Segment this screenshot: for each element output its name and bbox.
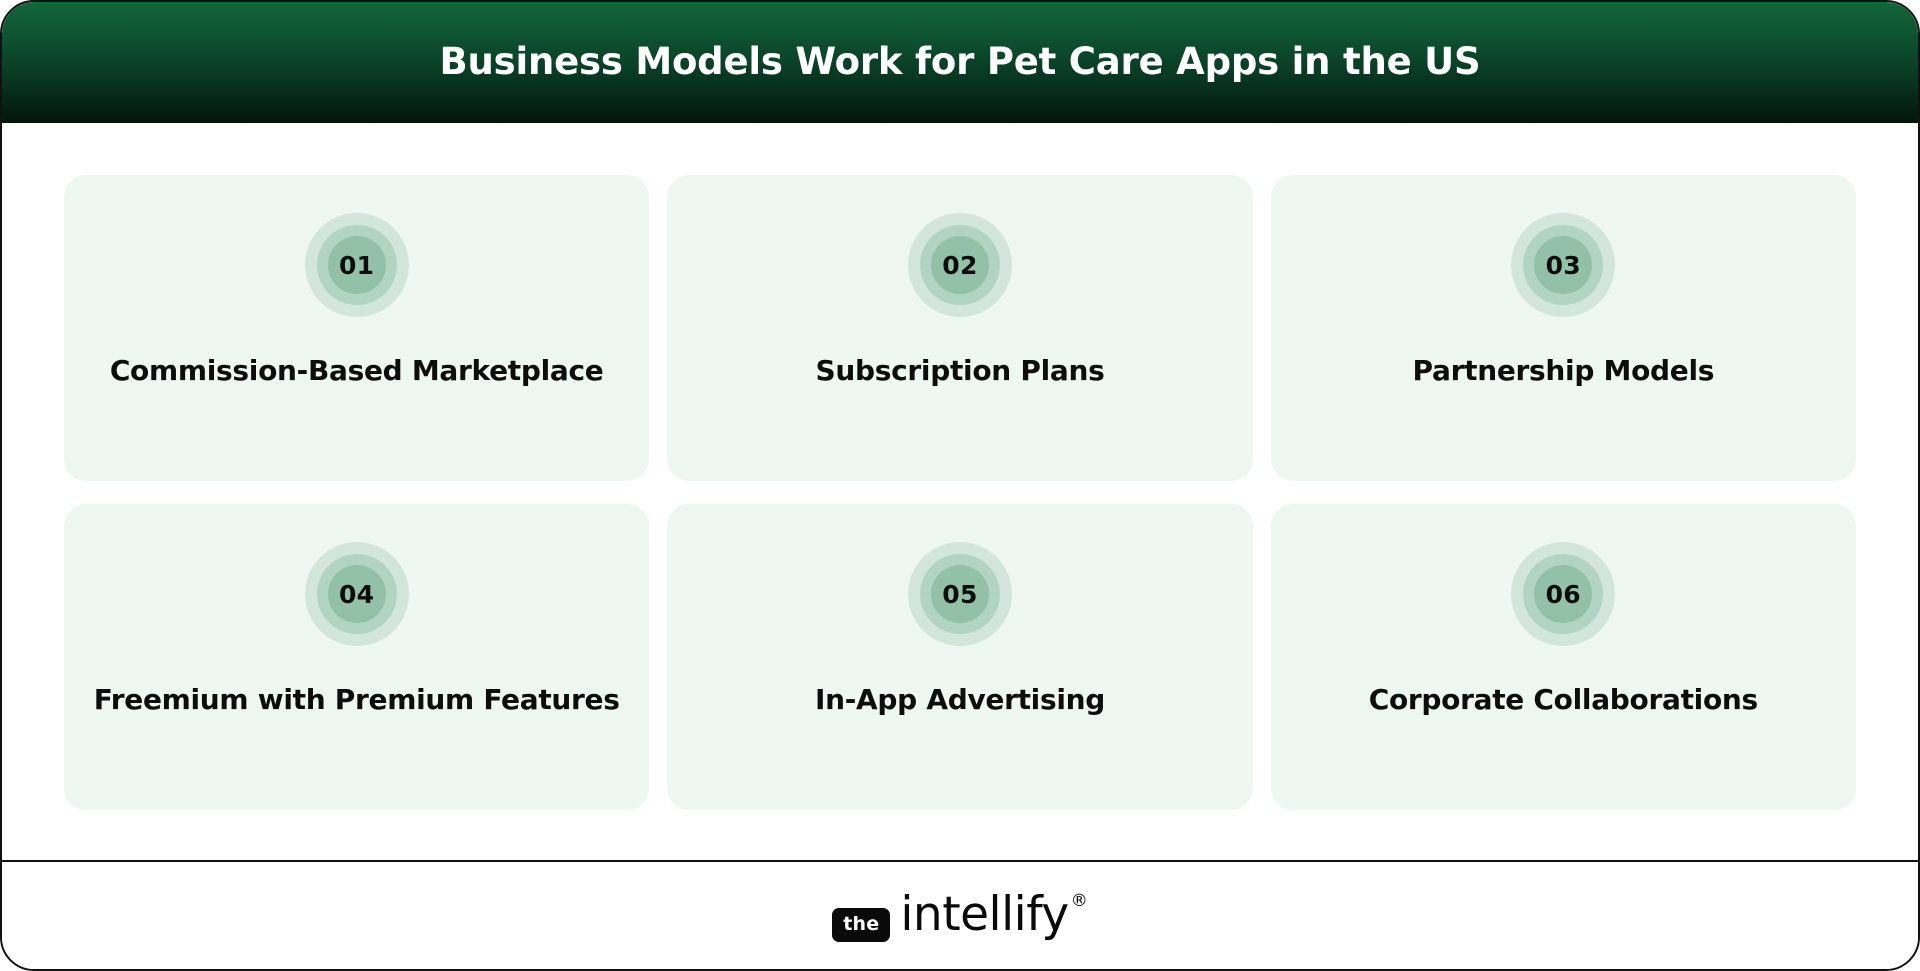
- card-title: Freemium with Premium Features: [76, 680, 638, 721]
- logo-name: intellify: [900, 891, 1068, 938]
- footer: the intellify ®: [2, 862, 1918, 971]
- badge-number: 03: [1546, 251, 1581, 280]
- card-grid: 01 Commission-Based Marketplace 02 Subsc…: [64, 175, 1856, 810]
- card-title: Corporate Collaborations: [1351, 680, 1776, 721]
- logo-the-badge: the: [832, 908, 890, 942]
- infographic-container: Business Models Work for Pet Care Apps i…: [0, 0, 1920, 971]
- number-badge: 03: [1511, 213, 1615, 317]
- number-badge: 06: [1511, 542, 1615, 646]
- card-title: Partnership Models: [1395, 351, 1733, 392]
- model-card[interactable]: 04 Freemium with Premium Features: [64, 504, 649, 810]
- card-title: Commission-Based Marketplace: [92, 351, 622, 392]
- registered-trademark-icon: ®: [1071, 893, 1088, 910]
- badge-number: 06: [1546, 580, 1581, 609]
- model-card[interactable]: 01 Commission-Based Marketplace: [64, 175, 649, 481]
- badge-number: 01: [339, 251, 374, 280]
- page-title: Business Models Work for Pet Care Apps i…: [380, 41, 1541, 84]
- model-card[interactable]: 02 Subscription Plans: [667, 175, 1252, 481]
- card-title: Subscription Plans: [798, 351, 1123, 392]
- badge-number: 04: [339, 580, 374, 609]
- number-badge: 04: [305, 542, 409, 646]
- number-badge: 01: [305, 213, 409, 317]
- number-badge: 02: [908, 213, 1012, 317]
- number-badge: 05: [908, 542, 1012, 646]
- header-banner: Business Models Work for Pet Care Apps i…: [2, 2, 1918, 123]
- model-card[interactable]: 06 Corporate Collaborations: [1271, 504, 1856, 810]
- badge-number: 05: [942, 580, 977, 609]
- model-card[interactable]: 03 Partnership Models: [1271, 175, 1856, 481]
- card-title: In-App Advertising: [797, 680, 1123, 721]
- brand-logo[interactable]: the intellify ®: [832, 891, 1088, 942]
- badge-number: 02: [942, 251, 977, 280]
- content-area: 01 Commission-Based Marketplace 02 Subsc…: [2, 123, 1918, 861]
- logo-wordmark: intellify ®: [900, 891, 1087, 938]
- model-card[interactable]: 05 In-App Advertising: [667, 504, 1252, 810]
